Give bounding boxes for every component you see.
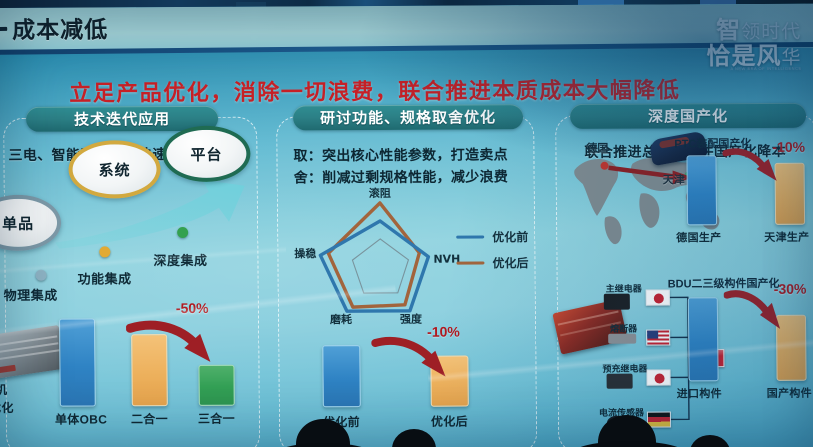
flag-de-icon [647, 411, 671, 427]
bubble-xitong: 系统 [68, 140, 161, 198]
motor-product-image [0, 325, 65, 381]
panel-tech-iteration: 技术迭代应用 三电、智能网联技术快速发展 单品 系统 平台 [3, 117, 260, 447]
svg-text:磨耗: 磨耗 [329, 312, 352, 325]
integration-label-physical: 物理集成 [4, 285, 58, 304]
bubble-pingtai: 平台 [162, 126, 251, 182]
integration-label-deep: 深度集成 [153, 250, 207, 269]
conference-photo: 成本减低 智领时代 恰是风华 A NEW ERA OF INTELLIGENCE… [0, 0, 813, 447]
bar-label-ptc-tianjin: 天津生产 [764, 229, 809, 245]
bar-label-before-optimization: 优化前 [323, 413, 360, 430]
stage-dot-functional [99, 246, 110, 257]
stage-dot-physical [36, 270, 47, 281]
panel-2-give-line: 舍：削减过剩规格性能，减少浪费 [294, 166, 509, 187]
legend-swatch-before [456, 235, 484, 238]
radar-legend: 优化前 优化后 [456, 228, 529, 280]
panel-2-pill: 研讨功能、规格取舍优化 [293, 104, 523, 130]
fuse-icon [608, 334, 636, 344]
legend-label-before: 优化前 [492, 228, 528, 245]
bar-ptc-germany [686, 155, 717, 225]
bar-label-bdu-import: 进口构件 [677, 385, 722, 401]
legend-item-before: 优化前 [456, 228, 528, 245]
panel-2-take-line: 取：突出核心性能参数，打造卖点 [293, 144, 508, 165]
bar-bdu-import [688, 297, 719, 381]
current-sensor-icon [607, 416, 627, 430]
decline-arrow-icon [126, 314, 222, 367]
svg-text:操稳: 操稳 [294, 246, 316, 260]
map-label-germany: 德国 [586, 140, 608, 156]
flag-us-icon [646, 329, 670, 345]
precharge-relay-icon [607, 374, 633, 389]
product-caption-line2: 成优化 [0, 399, 14, 416]
slogan-line-2: 恰是风华 A NEW ERA OF INTELLIGENCE [706, 44, 801, 72]
slogan-line-1: 智领时代 [706, 18, 801, 44]
panel-localization: 深度国产化 联合推进总成、构件国产化降本 [555, 114, 813, 447]
relay-icon [604, 294, 630, 310]
flag-jp-icon [646, 289, 670, 305]
bar-label-ptc-germany: 德国生产 [676, 229, 721, 245]
stage-dot-deep [177, 227, 188, 238]
legend-swatch-after [456, 261, 484, 264]
delta-label-bdu: -30% [774, 281, 807, 297]
panel-spec-tradeoff: 研讨功能、规格取舍优化 取：突出核心性能参数，打造卖点 舍：削减过剩规格性能，减… [276, 115, 537, 447]
slide-headline: 立足产品优化，消除一切浪费，联合推进本质成本大幅降低 [0, 72, 755, 108]
bar-label-erheyi: 二合一 [131, 410, 168, 427]
panel-3-pill: 深度国产化 [570, 103, 806, 129]
event-slogan: 智领时代 恰是风华 A NEW ERA OF INTELLIGENCE [706, 18, 802, 72]
bar-sanheyi [198, 365, 234, 406]
bar-label-sanheyi: 三合一 [198, 410, 235, 427]
delta-label-50: -50% [176, 300, 209, 316]
product-caption-line1: 电机 [0, 381, 7, 398]
bar-label-after-optimization: 优化后 [431, 413, 468, 430]
integration-label-functional: 功能集成 [78, 268, 132, 287]
delta-label-10: -10% [427, 324, 460, 340]
page-title: 成本减低 [12, 10, 108, 45]
bar-before-optimization [322, 345, 361, 407]
bar-label-bdu-domestic: 国产构件 [767, 385, 812, 401]
legend-item-after: 优化后 [456, 254, 528, 271]
bar-label-danti-obc: 单体OBC [55, 410, 107, 427]
title-bullet-icon [0, 27, 7, 31]
svg-text:强度: 强度 [400, 312, 423, 326]
bar-danti-obc [59, 318, 96, 406]
projected-slide: 成本减低 智领时代 恰是风华 A NEW ERA OF INTELLIGENCE… [0, 4, 813, 447]
map-label-tianjin: 天津 [663, 171, 685, 187]
radar-chart: 滚阻 NVH 强度 磨耗 操稳 [292, 187, 469, 326]
flag-jp-icon [647, 369, 671, 385]
svg-text:滚阻: 滚阻 [369, 187, 391, 201]
delta-label-ptc: -10% [772, 139, 805, 155]
legend-label-after: 优化后 [492, 254, 528, 271]
